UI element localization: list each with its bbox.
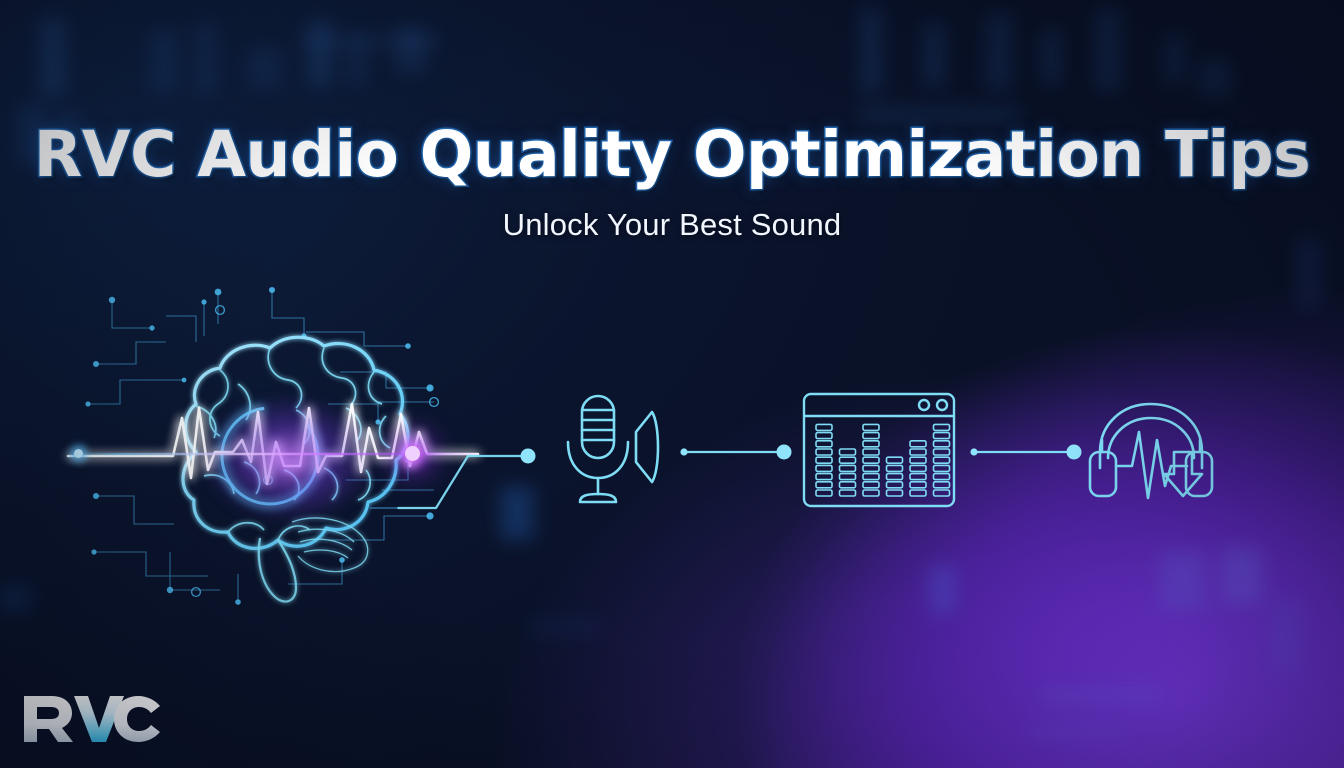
- equalizer-bar-segment: [934, 441, 950, 447]
- microphone-speaker-icon: [560, 390, 664, 510]
- equalizer-bar-segment: [934, 490, 950, 496]
- equalizer-bar-segment: [863, 449, 879, 455]
- equalizer-bar-segment: [863, 465, 879, 471]
- pipeline-step-equalizer: [802, 392, 956, 508]
- rvc-logo-mark: [22, 692, 162, 744]
- equalizer-bar-segment: [863, 474, 879, 480]
- equalizer-bar-segment: [816, 465, 832, 471]
- connector-microphone-to-equalizer: [678, 440, 798, 464]
- background-block: [1040, 690, 1160, 702]
- equalizer-bar-segment: [840, 465, 856, 471]
- equalizer-bar-segment: [816, 482, 832, 488]
- equalizer-bar-segment: [816, 433, 832, 439]
- headphones-download-icon: [1088, 396, 1214, 512]
- equalizer-bar-segment: [816, 449, 832, 455]
- logo-letter-r: [24, 696, 73, 742]
- equalizer-bar-segment: [910, 482, 926, 488]
- pipeline-step-headphones: [1088, 396, 1214, 512]
- equalizer-bar-segment: [887, 465, 903, 471]
- brain-core-glow: [198, 394, 378, 524]
- equalizer-bar-segment: [863, 457, 879, 463]
- pipeline-step-microphone: [560, 390, 664, 510]
- equalizer-window-icon: [802, 392, 956, 508]
- equalizer-bar-segment: [887, 474, 903, 480]
- background-block: [930, 566, 956, 614]
- background-block: [1270, 600, 1304, 674]
- equalizer-bar-segment: [816, 424, 832, 430]
- equalizer-bar-segment: [816, 490, 832, 496]
- equalizer-bar-segment: [840, 457, 856, 463]
- equalizer-bar-segment: [816, 457, 832, 463]
- connector-brain-to-microphone: [398, 430, 548, 520]
- equalizer-bar-segment: [863, 424, 879, 430]
- background-block: [1030, 726, 1126, 736]
- equalizer-bar-segment: [934, 433, 950, 439]
- equalizer-bar-segment: [910, 474, 926, 480]
- download-arrow-icon: [1164, 452, 1202, 496]
- equalizer-bar-segment: [910, 465, 926, 471]
- equalizer-bar-segment: [934, 465, 950, 471]
- equalizer-bar-segment: [934, 482, 950, 488]
- background-block: [530, 620, 600, 634]
- page-title: RVC Audio Quality Optimization Tips: [0, 118, 1344, 191]
- rvc-logo[interactable]: [22, 692, 162, 744]
- equalizer-bar-segment: [816, 441, 832, 447]
- equalizer-bar-segment: [910, 441, 926, 447]
- equalizer-bar-segment: [887, 482, 903, 488]
- equalizer-bar-segment: [934, 457, 950, 463]
- equalizer-bar-segment: [934, 424, 950, 430]
- equalizer-bar-segment: [840, 490, 856, 496]
- equalizer-bar-segment: [863, 433, 879, 439]
- equalizer-bar-segment: [863, 482, 879, 488]
- equalizer-bars: [816, 424, 950, 496]
- background-block: [1222, 548, 1262, 604]
- equalizer-bar-segment: [840, 449, 856, 455]
- equalizer-bar-segment: [934, 474, 950, 480]
- header: RVC Audio Quality Optimization Tips Unlo…: [0, 0, 1344, 243]
- equalizer-bar-segment: [934, 449, 950, 455]
- equalizer-bar-segment: [887, 457, 903, 463]
- equalizer-bar-segment: [863, 441, 879, 447]
- equalizer-bar-segment: [910, 457, 926, 463]
- equalizer-bar-segment: [840, 482, 856, 488]
- page-subtitle: Unlock Your Best Sound: [0, 207, 1344, 243]
- logo-letter-c: [114, 696, 160, 742]
- equalizer-bar-segment: [840, 474, 856, 480]
- equalizer-bar-segment: [910, 449, 926, 455]
- connector-equalizer-to-headphones: [968, 440, 1088, 464]
- background-block: [1160, 552, 1206, 610]
- background-block: [0, 586, 30, 612]
- beam-left-dot: [74, 449, 83, 458]
- equalizer-bar-segment: [887, 490, 903, 496]
- background-block: [1296, 238, 1322, 308]
- banner-canvas: RVC Audio Quality Optimization Tips Unlo…: [0, 0, 1344, 768]
- equalizer-bar-segment: [863, 490, 879, 496]
- equalizer-bar-segment: [816, 474, 832, 480]
- equalizer-bar-segment: [910, 490, 926, 496]
